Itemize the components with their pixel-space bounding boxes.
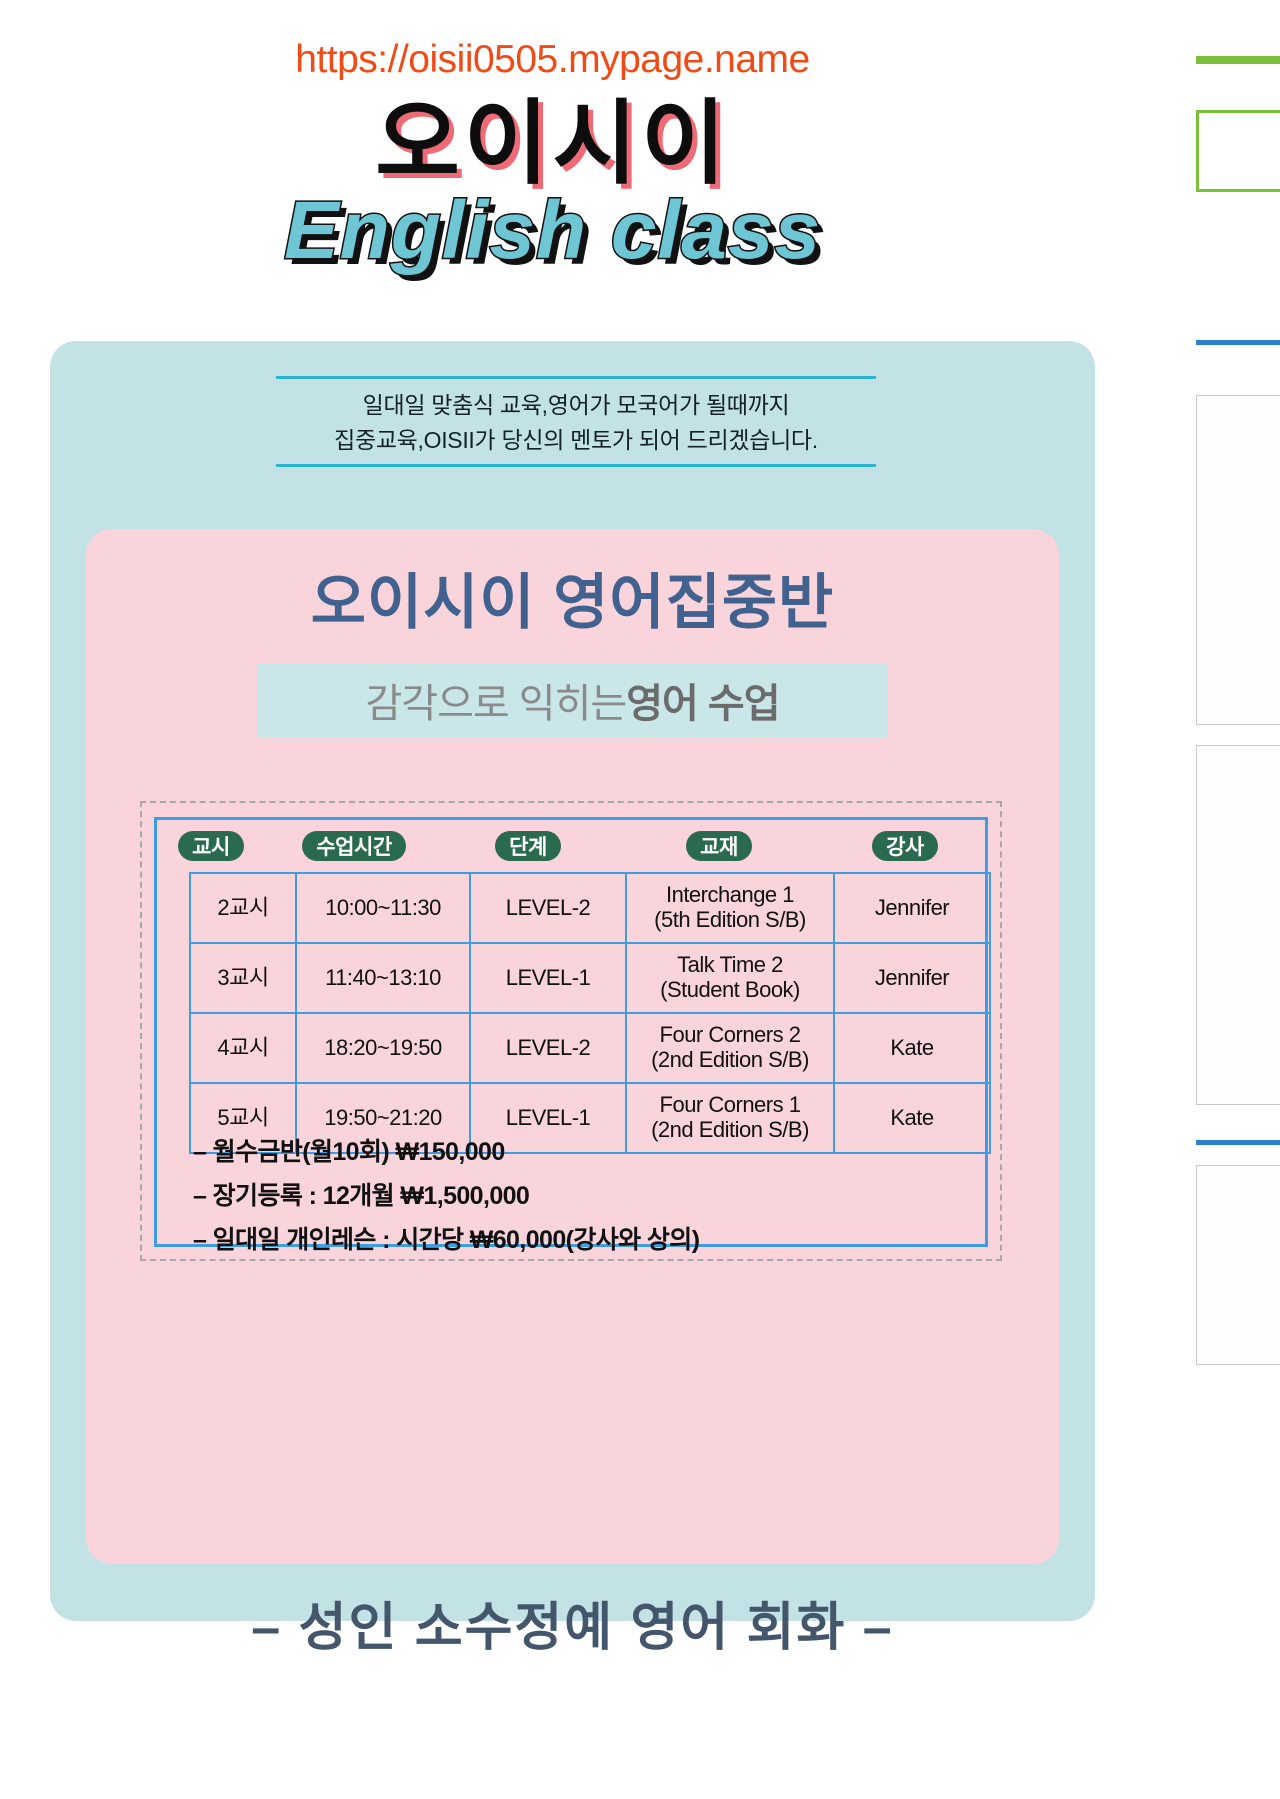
- cell-period: 3교시: [190, 943, 296, 1013]
- subtitle-block: 일대일 맞춤식 교육,영어가 모국어가 될때까지 집중교육,OISII가 당신의…: [276, 376, 876, 467]
- teal-card: 일대일 맞춤식 교육,영어가 모국어가 될때까지 집중교육,OISII가 당신의…: [50, 341, 1095, 1621]
- table-row: 3교시 11:40~13:10 LEVEL-1 Talk Time 2 (Stu…: [190, 943, 990, 1013]
- cell-level: LEVEL-1: [470, 943, 626, 1013]
- header-cell-level: 단계: [443, 831, 613, 861]
- badge-period: 교시: [178, 831, 244, 861]
- cell-book-line2: (2nd Edition S/B): [629, 1048, 831, 1073]
- list-item: – 장기등록 : 12개월 ₩1,500,000: [193, 1184, 893, 1209]
- cell-book-line2: (Student Book): [629, 978, 831, 1003]
- cell-book: Talk Time 2 (Student Book): [626, 943, 834, 1013]
- cell-teacher: Jennifer: [834, 873, 990, 943]
- course-heading: 오이시이 영어집중반: [86, 529, 1059, 633]
- poster-canvas: https://oisii0505.mypage.name 오이시이 Engli…: [0, 0, 1105, 1799]
- cell-time: 10:00~11:30: [296, 873, 470, 943]
- bottom-tagline: – 성인 소수정예 영어 회화 –: [50, 1585, 1095, 1660]
- badge-book: 교재: [686, 831, 752, 861]
- cell-book-line1: Four Corners 2: [629, 1023, 831, 1048]
- list-item: – 월수금반(월10회) ₩150,000: [193, 1140, 893, 1165]
- chrome-panel-one: [1196, 395, 1280, 725]
- table-row: 2교시 10:00~11:30 LEVEL-2 Interchange 1 (5…: [190, 873, 990, 943]
- pink-card: 오이시이 영어집중반 감각으로 익히는 영어 수업 교시 수업시간 단계: [86, 529, 1059, 1564]
- cell-book-line1: Four Corners 1: [629, 1093, 831, 1118]
- table-row: 4교시 18:20~19:50 LEVEL-2 Four Corners 2 (…: [190, 1013, 990, 1083]
- course-tagline-bold: 영어 수업: [626, 671, 779, 729]
- cell-teacher: Kate: [834, 1013, 990, 1083]
- cell-book: Four Corners 2 (2nd Edition S/B): [626, 1013, 834, 1083]
- website-url[interactable]: https://oisii0505.mypage.name: [0, 0, 1105, 79]
- brand-title-english: English class: [0, 190, 1105, 272]
- header-cell-teacher: 강사: [825, 831, 985, 861]
- cell-time: 11:40~13:10: [296, 943, 470, 1013]
- subtitle-text: 일대일 맞춤식 교육,영어가 모국어가 될때까지 집중교육,OISII가 당신의…: [276, 379, 876, 464]
- schedule-table: 2교시 10:00~11:30 LEVEL-2 Interchange 1 (5…: [189, 872, 991, 1154]
- schedule-frame: 교시 수업시간 단계 교재 강사: [154, 817, 988, 1247]
- header-cell-period: 교시: [157, 831, 265, 861]
- divider-bottom: [276, 464, 876, 467]
- course-tagline-bar: 감각으로 익히는 영어 수업: [258, 663, 888, 737]
- chrome-green-bar: [1196, 56, 1280, 64]
- chrome-panel-three: [1196, 1165, 1280, 1365]
- cell-book-line2: (2nd Edition S/B): [629, 1118, 831, 1143]
- cell-teacher: Jennifer: [834, 943, 990, 1013]
- cell-book-line2: (5th Edition S/B): [629, 908, 831, 933]
- cell-period: 2교시: [190, 873, 296, 943]
- chrome-green-box: [1196, 110, 1280, 192]
- cell-level: LEVEL-2: [470, 1013, 626, 1083]
- badge-level: 단계: [495, 831, 561, 861]
- cell-level: LEVEL-2: [470, 873, 626, 943]
- header-cell-time: 수업시간: [265, 831, 443, 861]
- chrome-blue-bar: [1196, 340, 1280, 345]
- chrome-blue-bar-two: [1196, 1140, 1280, 1145]
- right-panel-chrome: [1184, 0, 1280, 1799]
- list-item: – 일대일 개인레슨 : 시간당 ₩60,000(강사와 상의): [193, 1228, 893, 1253]
- price-list: – 월수금반(월10회) ₩150,000 – 장기등록 : 12개월 ₩1,5…: [193, 1140, 893, 1272]
- cell-period: 4교시: [190, 1013, 296, 1083]
- cell-book-line1: Talk Time 2: [629, 953, 831, 978]
- badge-time: 수업시간: [302, 831, 405, 861]
- schedule-header-row: 교시 수업시간 단계 교재 강사: [157, 820, 991, 872]
- course-tagline-light: 감각으로 익히는: [365, 671, 626, 729]
- badge-teacher: 강사: [872, 831, 938, 861]
- brand-title-korean: 오이시이: [0, 95, 1105, 194]
- header-cell-book: 교재: [613, 831, 825, 861]
- chrome-panel-two: [1196, 745, 1280, 1105]
- cell-time: 18:20~19:50: [296, 1013, 470, 1083]
- cell-book-line1: Interchange 1: [629, 883, 831, 908]
- cell-book: Interchange 1 (5th Edition S/B): [626, 873, 834, 943]
